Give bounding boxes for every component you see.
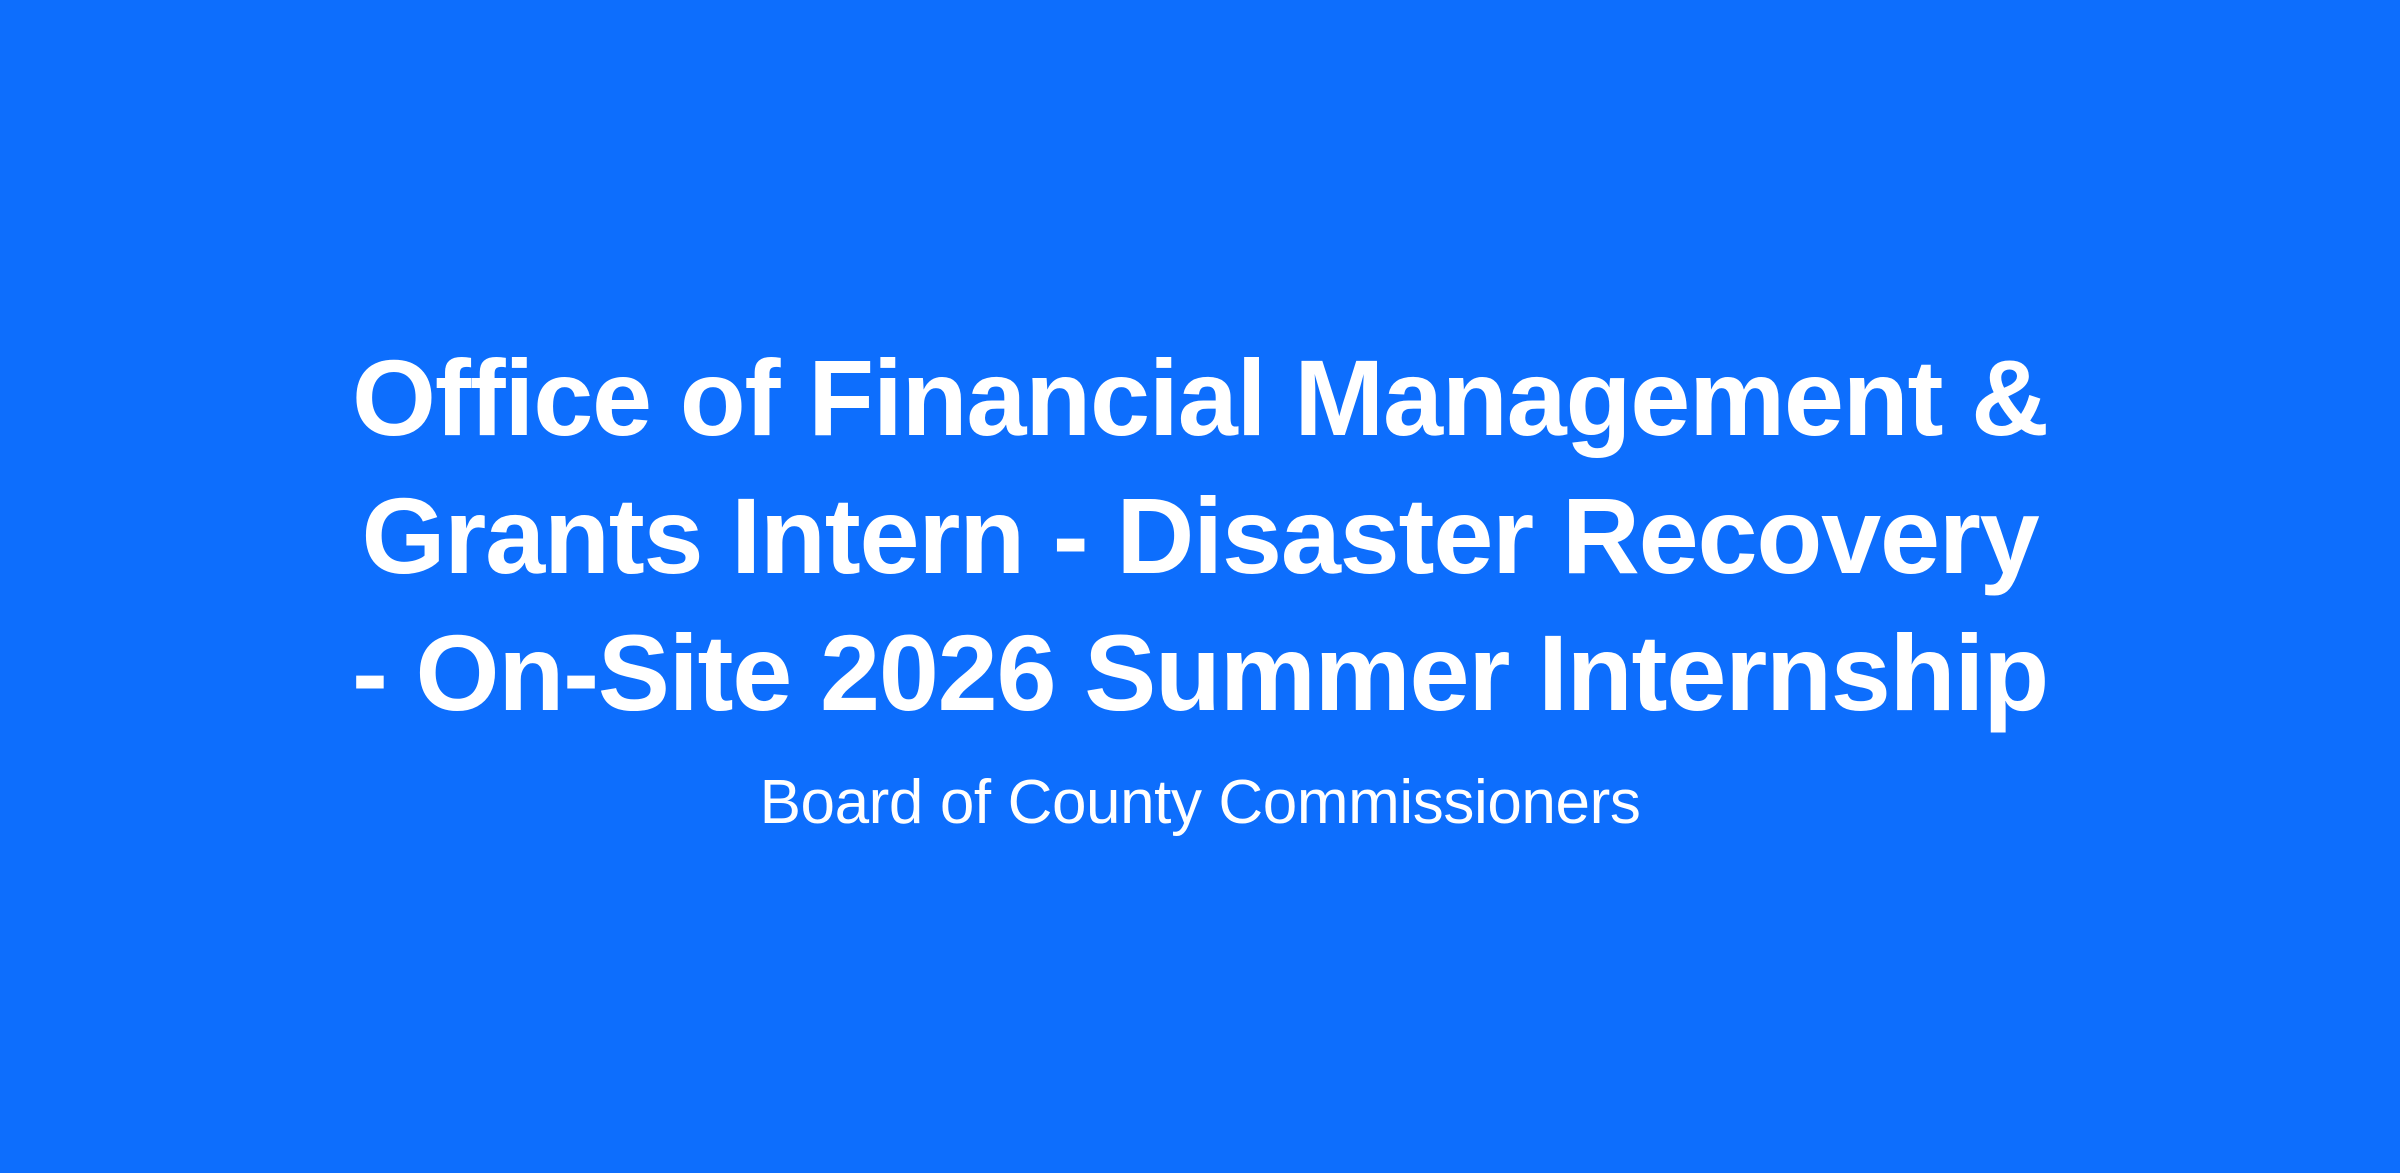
organization-name: Board of County Commissioners [760,763,1641,844]
job-posting-banner: Office of Financial Management & Grants … [0,0,2400,1173]
banner-content: Office of Financial Management & Grants … [350,329,2050,843]
page-title: Office of Financial Management & Grants … [350,329,2050,740]
